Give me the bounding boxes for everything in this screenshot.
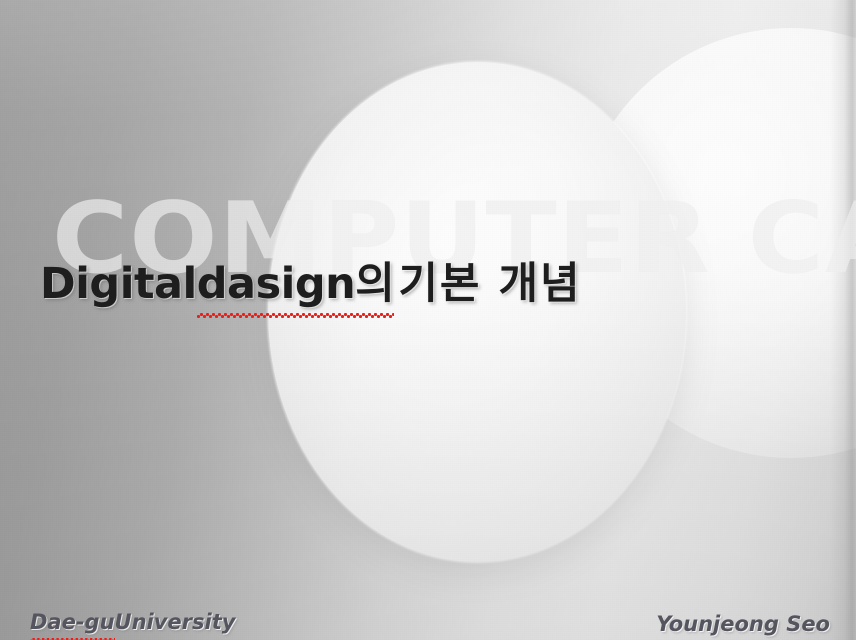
background-vertical-shading xyxy=(0,0,856,640)
background-right-edge-shading xyxy=(830,0,856,640)
title-misspelled-label: dasign의 xyxy=(197,259,395,309)
footer-institution-prefix: Dae-gu xyxy=(30,610,115,634)
footer-institution-misspelled: Dae-gu xyxy=(30,608,115,636)
slide-title: Digital dasign의 기본 개념 xyxy=(40,258,582,310)
footer-author: Younjeong Seo xyxy=(656,610,830,638)
title-text-misspelled: dasign의 xyxy=(197,258,395,310)
title-text-english: Digital xyxy=(40,258,197,310)
title-text-korean: 기본 개념 xyxy=(398,258,581,310)
footer-institution: Dae-gu University xyxy=(30,608,235,636)
presentation-slide: COMPUTER CAD COMPUTER CAD Digital dasign… xyxy=(0,0,856,640)
footer-author-name: Younjeong Seo xyxy=(656,610,830,638)
footer-author-label: Younjeong Seo xyxy=(656,612,830,636)
footer-institution-rest: University xyxy=(115,608,236,636)
